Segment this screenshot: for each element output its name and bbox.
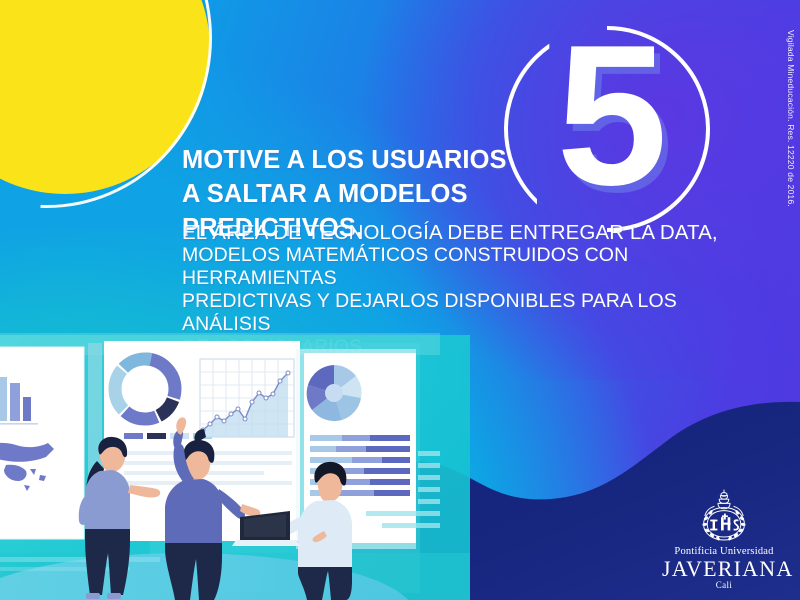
- javeriana-crest-icon: [688, 487, 760, 545]
- logo-line-3: Cali: [662, 580, 786, 590]
- headline-line-1: MOTIVE A LOS USUARIOS: [182, 146, 507, 174]
- university-logo: Pontificia Universidad JAVERIANA Cali: [662, 487, 786, 587]
- body-line-1: EL ÁREA DE TECNOLOGÍA DEBE ENTREGAR LA D…: [182, 221, 730, 244]
- data-analytics-illustration: [0, 325, 520, 600]
- right-board-pie: [307, 365, 362, 421]
- poster-canvas: 5 MOTIVE A LOS USUARIOS A SALTAR A MODEL…: [0, 0, 800, 600]
- center-board-trend: [200, 359, 294, 437]
- accreditation-disclaimer: Vigilada Mineducación. Res. 12220 de 201…: [786, 30, 796, 207]
- board-left: [0, 347, 84, 539]
- logo-line-2: JAVERIANA: [662, 557, 786, 580]
- body-line-2: MODELOS MATEMÁTICOS CONSTRUIDOS CON HERR…: [182, 244, 730, 290]
